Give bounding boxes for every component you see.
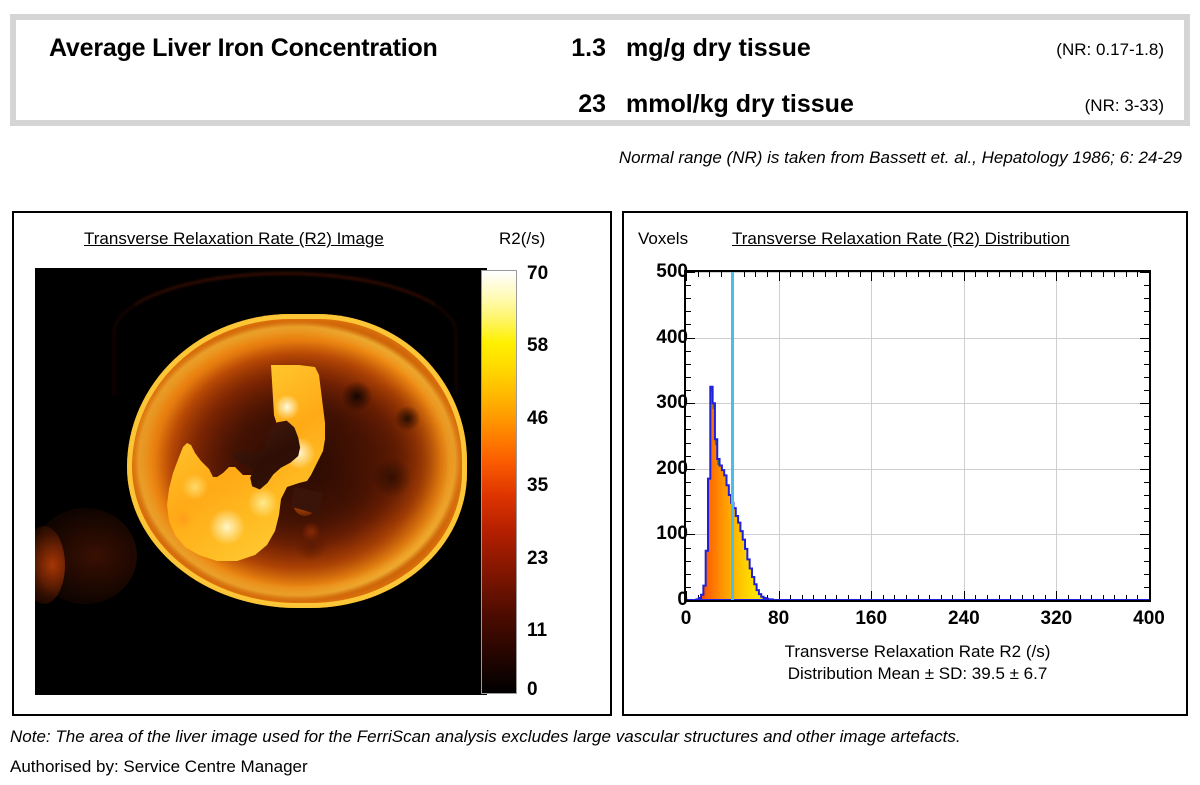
- histogram-ytick-label: 400: [638, 327, 688, 349]
- xtick-top: [1149, 272, 1150, 281]
- result-nr-mmolkg: (NR: 3-33): [1085, 96, 1164, 116]
- r2-distribution-panel: Voxels Transverse Relaxation Rate (R2) D…: [622, 211, 1188, 716]
- r2-colorbar-group: 70 58 46 35 23 11 0: [481, 268, 596, 696]
- colorbar-tick-11: 11: [527, 620, 547, 642]
- result-title: Average Liver Iron Concentration: [49, 34, 438, 63]
- result-nr-mgg: (NR: 0.17-1.8): [1056, 40, 1164, 60]
- histogram-plot-area: [684, 270, 1151, 602]
- histogram-caption: Transverse Relaxation Rate R2 (/s) Distr…: [684, 641, 1151, 685]
- result-unit-mgg: mg/g dry tissue: [626, 34, 811, 63]
- result-value-mgg: 1.3: [526, 34, 606, 63]
- histogram-xtick-label: 240: [934, 608, 994, 630]
- histogram-stats: Distribution Mean ± SD: 39.5 ± 6.7: [684, 663, 1151, 685]
- result-value-mmolkg: 23: [526, 90, 606, 119]
- colorbar-tick-0: 0: [527, 679, 538, 701]
- xtick: [1149, 591, 1150, 600]
- r2-liver-mri-image: [35, 268, 487, 695]
- colorbar-tick-70: 70: [527, 263, 548, 285]
- histogram-xtick-label: 80: [749, 608, 809, 630]
- colorbar-tick-23: 23: [527, 548, 548, 570]
- colorbar-title: R2(/s): [499, 229, 545, 249]
- r2-colorbar: [481, 270, 517, 694]
- histogram-title: Transverse Relaxation Rate (R2) Distribu…: [732, 229, 1070, 249]
- r2-image-panel: Transverse Relaxation Rate (R2) Image R2…: [12, 211, 612, 716]
- histogram-xtick-label: 160: [841, 608, 901, 630]
- liver-iron-result-box: Average Liver Iron Concentration 1.3 mg/…: [10, 14, 1190, 126]
- liver-vascular-exclusion-notch: [291, 487, 323, 515]
- result-unit-mmolkg: mmol/kg dry tissue: [626, 90, 854, 119]
- histogram-xtick-label: 320: [1026, 608, 1086, 630]
- r2-image-title: Transverse Relaxation Rate (R2) Image: [84, 229, 384, 249]
- colorbar-tick-58: 58: [527, 335, 548, 357]
- footer-note: Note: The area of the liver image used f…: [10, 727, 961, 747]
- liver-roi-region: [147, 363, 347, 563]
- colorbar-tick-46: 46: [527, 408, 548, 430]
- colorbar-tick-35: 35: [527, 475, 548, 497]
- result-row: 23 mmol/kg dry tissue (NR: 3-33): [16, 90, 1184, 140]
- histogram-ytick-label: 200: [638, 458, 688, 480]
- distribution-mean-line: [731, 272, 734, 600]
- result-row: Average Liver Iron Concentration 1.3 mg/…: [16, 34, 1184, 84]
- ytick-right: [1140, 600, 1149, 601]
- histogram-ytick-label: 100: [638, 523, 688, 545]
- histogram-xlabel: Transverse Relaxation Rate R2 (/s): [684, 641, 1151, 663]
- histogram-bars: [686, 272, 1149, 600]
- histogram-xtick-label: 400: [1119, 608, 1179, 630]
- histogram-xtick-label: 0: [656, 608, 716, 630]
- normal-range-source-note: Normal range (NR) is taken from Bassett …: [0, 148, 1182, 168]
- authorised-by: Authorised by: Service Centre Manager: [10, 757, 308, 777]
- histogram-ytick-label: 300: [638, 392, 688, 414]
- histogram-ytick-label: 500: [638, 261, 688, 283]
- histogram-yaxis-title: Voxels: [638, 229, 688, 249]
